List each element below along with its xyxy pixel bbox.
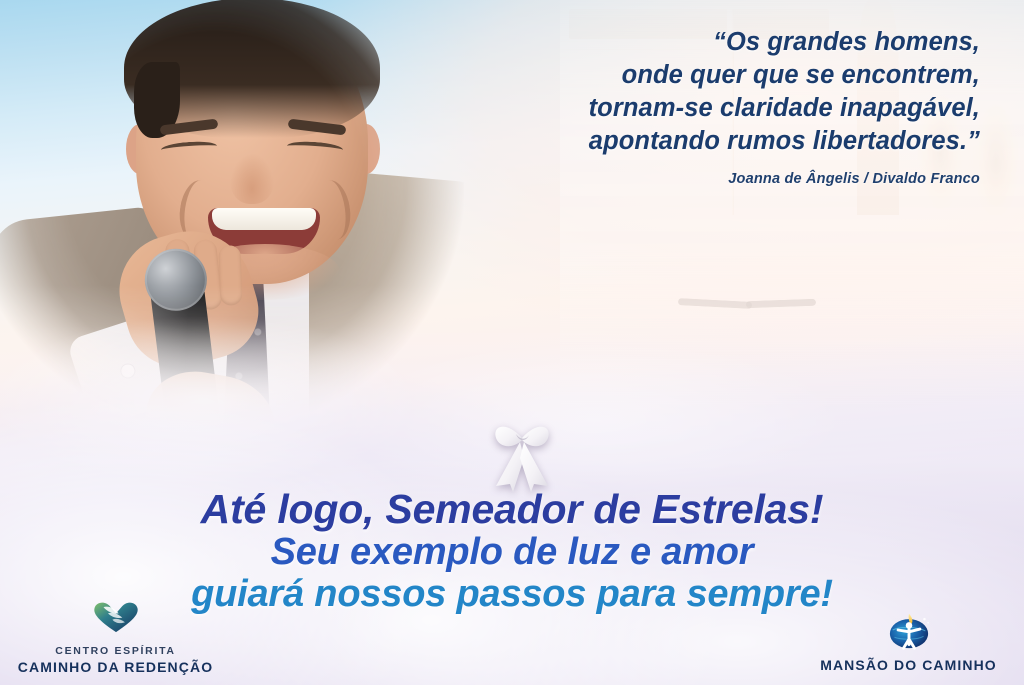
quote-line-2: onde quer que se encontrem,	[340, 59, 980, 92]
hands-heart-logo-icon	[8, 598, 223, 639]
quote-text: “Os grandes homens, onde quer que se enc…	[340, 26, 980, 158]
logo-centro-espirita-caminho-da-redencao: CENTRO ESPÍRITA CAMINHO DA REDENÇÃO	[8, 598, 223, 677]
white-mourning-ribbon-icon	[486, 414, 558, 492]
headline-block: Até logo, Semeador de Estrelas! Seu exem…	[0, 488, 1024, 614]
quote-line-1: “Os grandes homens,	[340, 26, 980, 59]
logo-left-line-2: CAMINHO DA REDENÇÃO	[18, 659, 213, 675]
globe-figure-flame-logo-icon	[801, 610, 1016, 655]
tribute-poster: “Os grandes homens, onde quer que se enc…	[0, 0, 1024, 685]
headline-line-1: Até logo, Semeador de Estrelas!	[0, 488, 1024, 530]
portrait-nose	[230, 154, 274, 204]
logo-left-line-1: CENTRO ESPÍRITA	[55, 645, 175, 657]
quote-line-3: tornam-se claridade inapagável,	[340, 92, 980, 125]
quote-line-4: apontando rumos libertadores.”	[340, 125, 980, 158]
logo-right-line-1: MANSÃO DO CAMINHO	[820, 657, 997, 673]
photo-ground	[560, 254, 1024, 430]
logo-mansao-do-caminho: MANSÃO DO CAMINHO	[801, 610, 1016, 675]
headline-line-2: Seu exemplo de luz e amor	[0, 532, 1024, 572]
portrait-finger	[218, 245, 242, 306]
portrait-teeth	[212, 208, 316, 230]
quote-attribution: Joanna de Ângelis / Divaldo Franco	[340, 171, 980, 187]
